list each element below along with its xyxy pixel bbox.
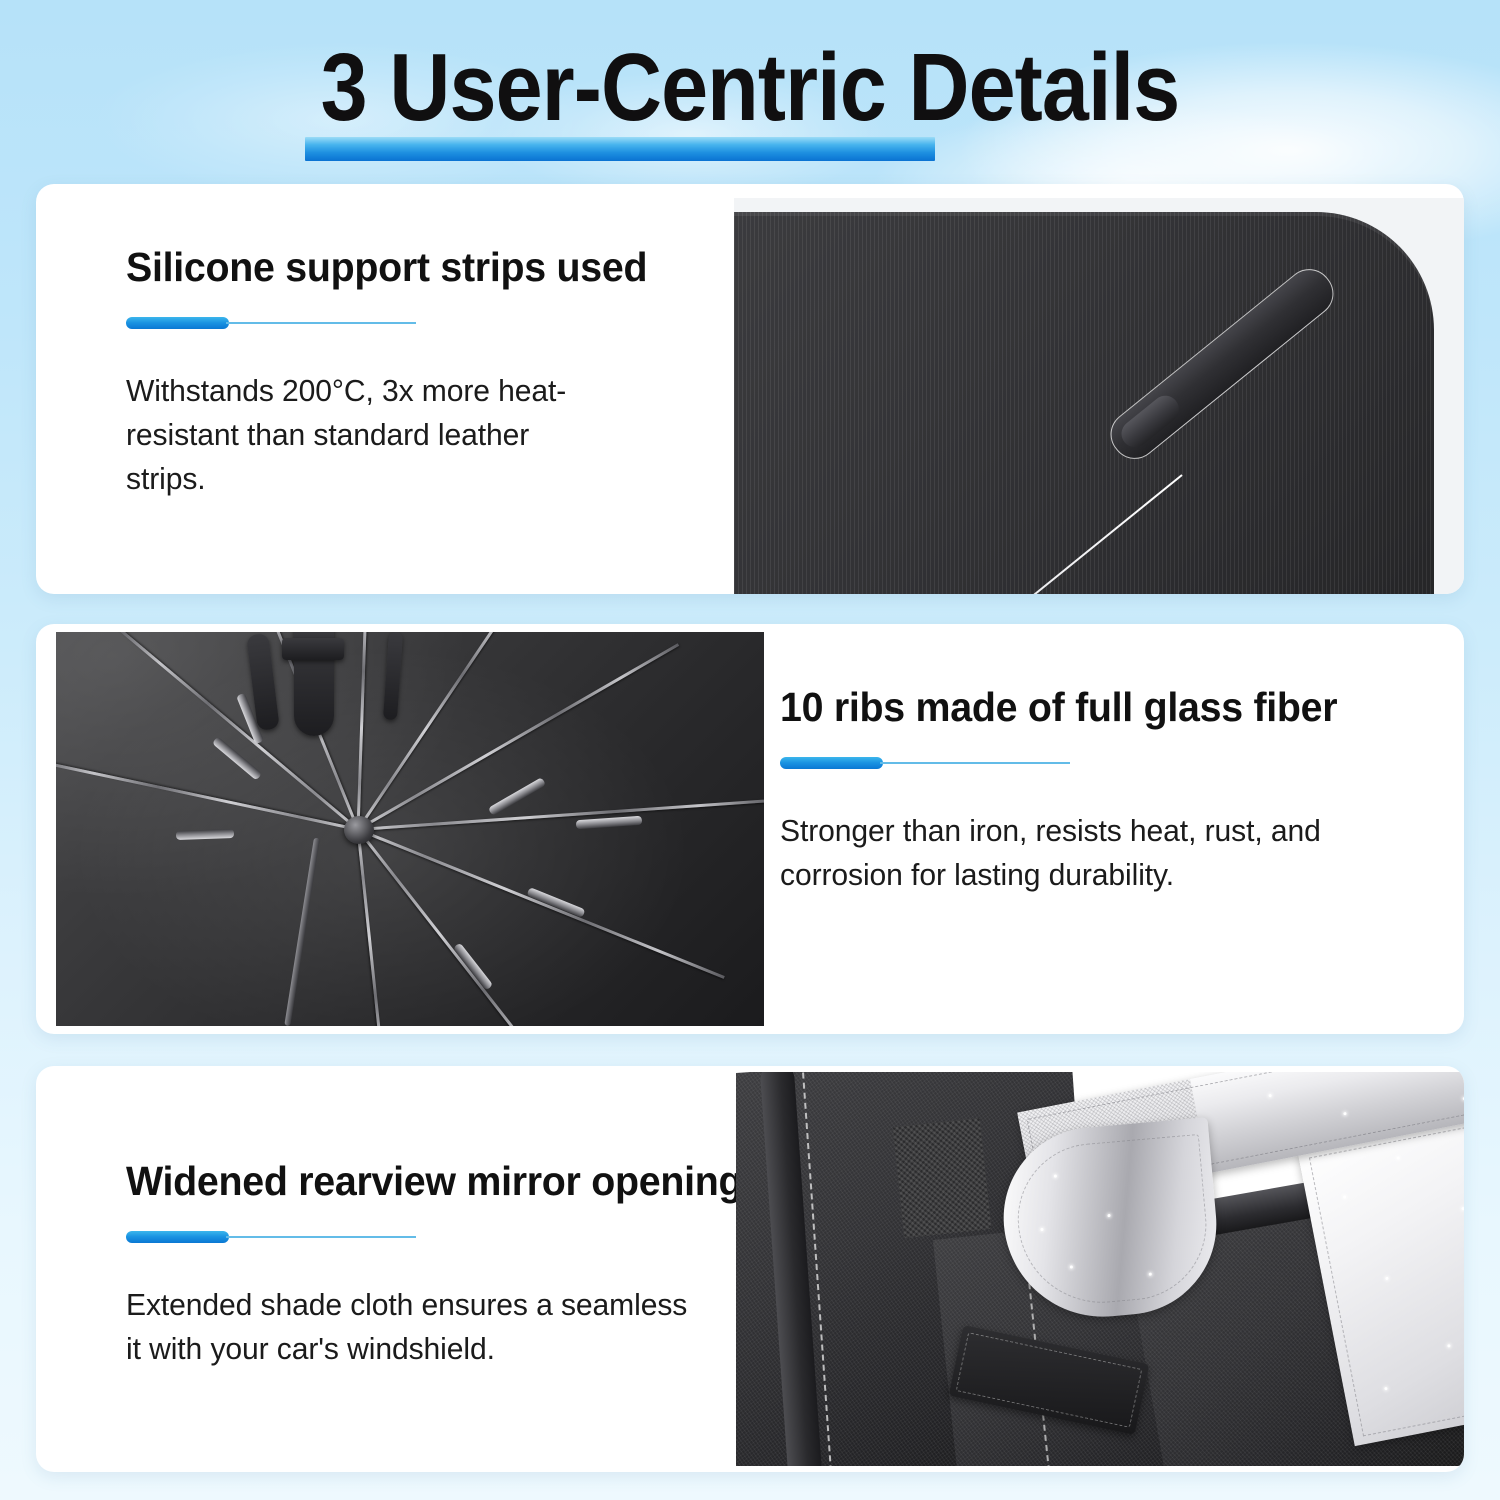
feature-card-silicone-support-strips: Silicone support strips used Withstands … — [36, 184, 1464, 594]
card-2-headline: 10 ribs made of full glass fiber — [780, 684, 1375, 731]
card-1-body: Withstands 200°C, 3x more heat-resistant… — [126, 369, 582, 501]
card-3-divider — [126, 1231, 766, 1243]
page-title: 3 User-Centric Details — [90, 28, 1410, 148]
silicone-support-strip — [1101, 260, 1343, 468]
card-2-divider — [780, 757, 1400, 769]
card-1-text-block: Silicone support strips used Withstands … — [126, 244, 706, 501]
card-3-divider-thick — [126, 1231, 229, 1243]
card-2-divider-thick — [780, 757, 883, 769]
photo-vignette — [56, 632, 764, 1026]
velcro-patch — [892, 1118, 991, 1239]
card-1-headline: Silicone support strips used — [126, 244, 683, 291]
umbrella-handle-grip — [282, 638, 344, 660]
card-3-headline: Widened rearview mirror opening — [126, 1158, 740, 1205]
sunshade-panel — [734, 212, 1434, 594]
card-2-text-block: 10 ribs made of full glass fiber Stronge… — [780, 684, 1400, 897]
card-3-image-mirror-opening — [736, 1072, 1464, 1466]
card-3-body: Extended shade cloth ensures a seamless … — [126, 1283, 708, 1371]
card-1-divider-thin — [226, 322, 416, 324]
umbrella-hub — [344, 816, 374, 844]
card-2-image-umbrella-ribs — [56, 632, 764, 1026]
page-header: 3 User-Centric Details — [0, 28, 1500, 148]
infographic-page: 3 User-Centric Details Silicone support … — [0, 0, 1500, 1500]
card-1-divider-thick — [126, 317, 229, 329]
feature-card-widened-mirror-opening: Widened rearview mirror opening Extended… — [36, 1066, 1464, 1472]
card-3-divider-thin — [226, 1236, 416, 1238]
card-3-text-block: Widened rearview mirror opening Extended… — [126, 1158, 766, 1371]
card-1-divider — [126, 317, 706, 329]
card-1-image-silicone-strip — [734, 198, 1464, 594]
stitch-thread-line — [925, 474, 1183, 594]
feature-card-glass-fiber-ribs: 10 ribs made of full glass fiber Stronge… — [36, 624, 1464, 1034]
card-2-divider-thin — [880, 762, 1070, 764]
card-2-body: Stronger than iron, resists heat, rust, … — [780, 809, 1372, 897]
silicone-strip-nub — [1116, 390, 1184, 453]
strap-stitch-loop — [1011, 1134, 1212, 1310]
